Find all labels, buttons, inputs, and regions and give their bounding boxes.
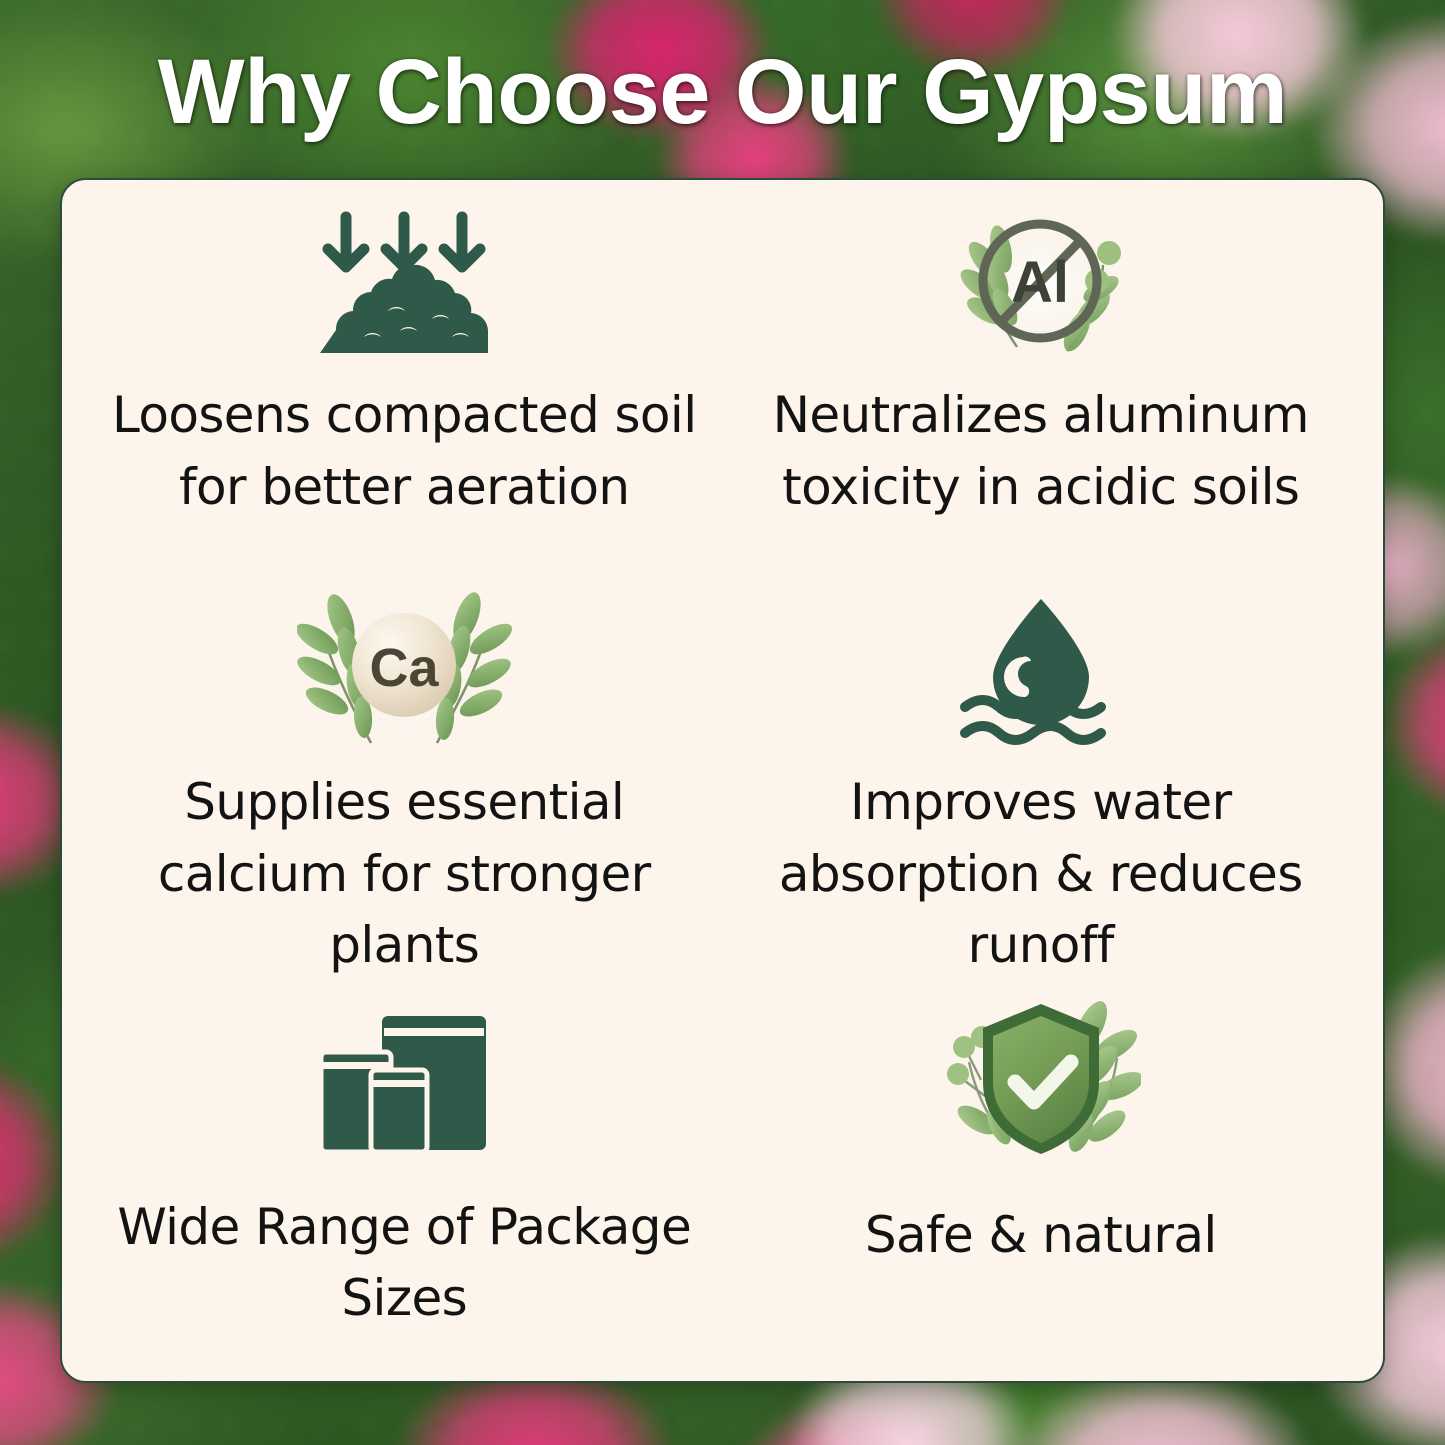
feature-supplies-calcium: Ca Supplies essential calcium for strong… [86, 575, 723, 982]
feature-caption: Wide Range of Package Sizes [104, 1192, 704, 1335]
feature-loosens-soil: Loosens compacted soil for better aerati… [86, 194, 723, 575]
shield-check-leaves-icon [941, 988, 1141, 1170]
feature-improves-water: Improves water absorption & reduces runo… [723, 575, 1360, 982]
features-card: Loosens compacted soil for better aerati… [60, 178, 1385, 1383]
soil-arrows-icon [304, 200, 504, 370]
package-bags-icon [314, 988, 494, 1170]
calcium-sphere-icon: Ca [297, 581, 512, 757]
feature-neutralizes-aluminum: Al Neutralizes aluminum toxicity in acid… [723, 194, 1360, 575]
svg-text:Al: Al [1011, 250, 1069, 315]
svg-text:Ca: Ca [369, 638, 439, 698]
feature-caption: Safe & natural [865, 1200, 1217, 1272]
page-title: Why Choose Our Gypsum [0, 44, 1445, 141]
feature-caption: Improves water absorption & reduces runo… [741, 767, 1341, 982]
feature-package-sizes: Wide Range of Package Sizes [86, 982, 723, 1363]
feature-caption: Neutralizes aluminum toxicity in acidic … [741, 380, 1341, 523]
water-droplet-waves-icon [953, 581, 1129, 757]
feature-safe-natural: Safe & natural [723, 982, 1360, 1363]
no-aluminum-icon: Al [943, 200, 1138, 370]
feature-caption: Supplies essential calcium for stronger … [104, 767, 704, 982]
feature-caption: Loosens compacted soil for better aerati… [104, 380, 704, 523]
